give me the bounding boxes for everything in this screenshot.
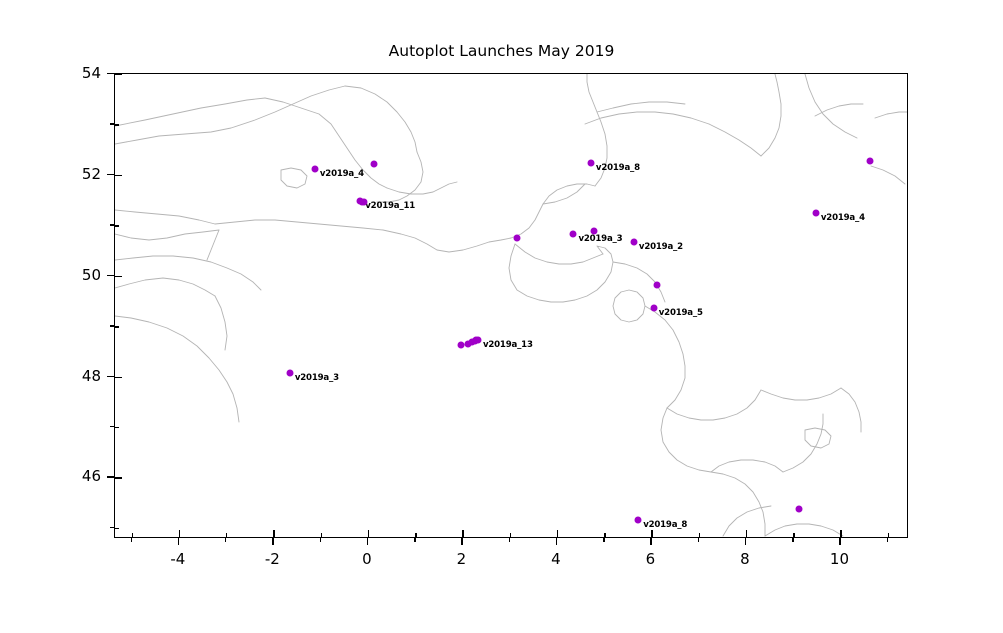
point-label: v2019a_3 xyxy=(295,373,339,383)
x-tick-label: -2 xyxy=(265,550,280,568)
y-minor-tick-mark xyxy=(110,123,114,124)
point-label: v2019a_2 xyxy=(639,242,683,252)
x-tick-label: -4 xyxy=(170,550,185,568)
x-tick-mark xyxy=(461,538,462,545)
x-tick-mark xyxy=(178,538,179,545)
data-point xyxy=(465,340,472,347)
y-major-tick xyxy=(115,175,122,176)
x-minor-tick xyxy=(604,533,605,537)
x-major-tick xyxy=(840,530,841,537)
x-minor-tick xyxy=(510,533,511,537)
x-minor-tick xyxy=(415,533,416,537)
y-major-tick xyxy=(115,477,122,478)
data-point xyxy=(812,209,819,216)
x-major-tick xyxy=(557,530,558,537)
point-label: v2019a_13 xyxy=(483,340,533,350)
y-tick-mark xyxy=(107,476,114,477)
data-point xyxy=(286,369,293,376)
y-tick-label: 46 xyxy=(0,467,101,485)
y-tick-label: 50 xyxy=(0,266,101,284)
y-major-tick xyxy=(115,276,122,277)
y-minor-tick xyxy=(115,225,119,226)
point-label: v2019a_4 xyxy=(320,169,364,179)
x-tick-mark xyxy=(272,538,273,545)
y-tick-mark xyxy=(107,376,114,377)
data-point xyxy=(587,160,594,167)
y-tick-mark xyxy=(107,275,114,276)
data-point xyxy=(650,305,657,312)
y-major-tick xyxy=(115,377,122,378)
data-point xyxy=(590,228,597,235)
figure-canvas: Autoplot Launches May 2019 xyxy=(0,0,1003,633)
x-tick-mark xyxy=(367,538,368,545)
y-major-tick xyxy=(115,74,122,75)
x-minor-tick xyxy=(888,533,889,537)
data-point xyxy=(795,505,802,512)
x-minor-tick xyxy=(321,533,322,537)
y-minor-tick-mark xyxy=(110,224,114,225)
y-minor-tick-mark xyxy=(110,426,114,427)
x-minor-tick-mark xyxy=(320,538,321,542)
x-major-tick xyxy=(651,530,652,537)
point-label: v2019a_11 xyxy=(365,201,415,211)
x-tick-label: 10 xyxy=(830,550,849,568)
data-point xyxy=(370,160,377,167)
chart-title: Autoplot Launches May 2019 xyxy=(0,42,1003,60)
y-minor-tick-mark xyxy=(110,325,114,326)
x-tick-label: 0 xyxy=(362,550,372,568)
data-point xyxy=(635,517,642,524)
point-label: v2019a_4 xyxy=(821,213,865,223)
x-major-tick xyxy=(368,530,369,537)
x-minor-tick xyxy=(132,533,133,537)
x-minor-tick xyxy=(226,533,227,537)
data-point xyxy=(458,341,465,348)
x-minor-tick-mark xyxy=(509,538,510,542)
x-tick-label: 2 xyxy=(457,550,467,568)
x-minor-tick xyxy=(793,533,794,537)
x-tick-mark xyxy=(650,538,651,545)
point-label: v2019a_8 xyxy=(643,520,687,530)
y-minor-tick xyxy=(115,326,119,327)
y-minor-tick xyxy=(115,427,119,428)
data-point xyxy=(570,230,577,237)
data-point xyxy=(311,165,318,172)
x-tick-mark xyxy=(839,538,840,545)
y-minor-tick xyxy=(115,124,119,125)
y-minor-tick-mark xyxy=(110,527,114,528)
x-major-tick xyxy=(746,530,747,537)
y-tick-label: 54 xyxy=(0,64,101,82)
data-point xyxy=(630,239,637,246)
x-minor-tick xyxy=(699,533,700,537)
x-minor-tick-mark xyxy=(698,538,699,542)
x-major-tick xyxy=(462,530,463,537)
x-minor-tick-mark xyxy=(225,538,226,542)
x-minor-tick-mark xyxy=(887,538,888,542)
point-label: v2019a_5 xyxy=(659,308,703,318)
data-point xyxy=(654,281,661,288)
scatter-layer: v2019a_4v2019a_11v2019a_8v2019a_4v2019a_… xyxy=(115,74,908,538)
point-label: v2019a_8 xyxy=(596,163,640,173)
x-tick-label: 8 xyxy=(740,550,750,568)
y-tick-label: 48 xyxy=(0,367,101,385)
x-tick-mark xyxy=(556,538,557,545)
x-minor-tick-mark xyxy=(603,538,604,542)
plot-axes: v2019a_4v2019a_11v2019a_8v2019a_4v2019a_… xyxy=(114,73,908,538)
y-tick-mark xyxy=(107,73,114,74)
x-tick-label: 4 xyxy=(551,550,561,568)
point-label: v2019a_3 xyxy=(578,234,622,244)
data-point xyxy=(866,157,873,164)
x-tick-label: 6 xyxy=(646,550,656,568)
x-minor-tick-mark xyxy=(414,538,415,542)
x-tick-mark xyxy=(745,538,746,545)
x-minor-tick-mark xyxy=(792,538,793,542)
data-point xyxy=(513,234,520,241)
data-point xyxy=(360,199,367,206)
x-major-tick xyxy=(273,530,274,537)
y-tick-label: 52 xyxy=(0,165,101,183)
y-tick-mark xyxy=(107,174,114,175)
x-major-tick xyxy=(179,530,180,537)
y-minor-tick xyxy=(115,528,119,529)
x-minor-tick-mark xyxy=(131,538,132,542)
